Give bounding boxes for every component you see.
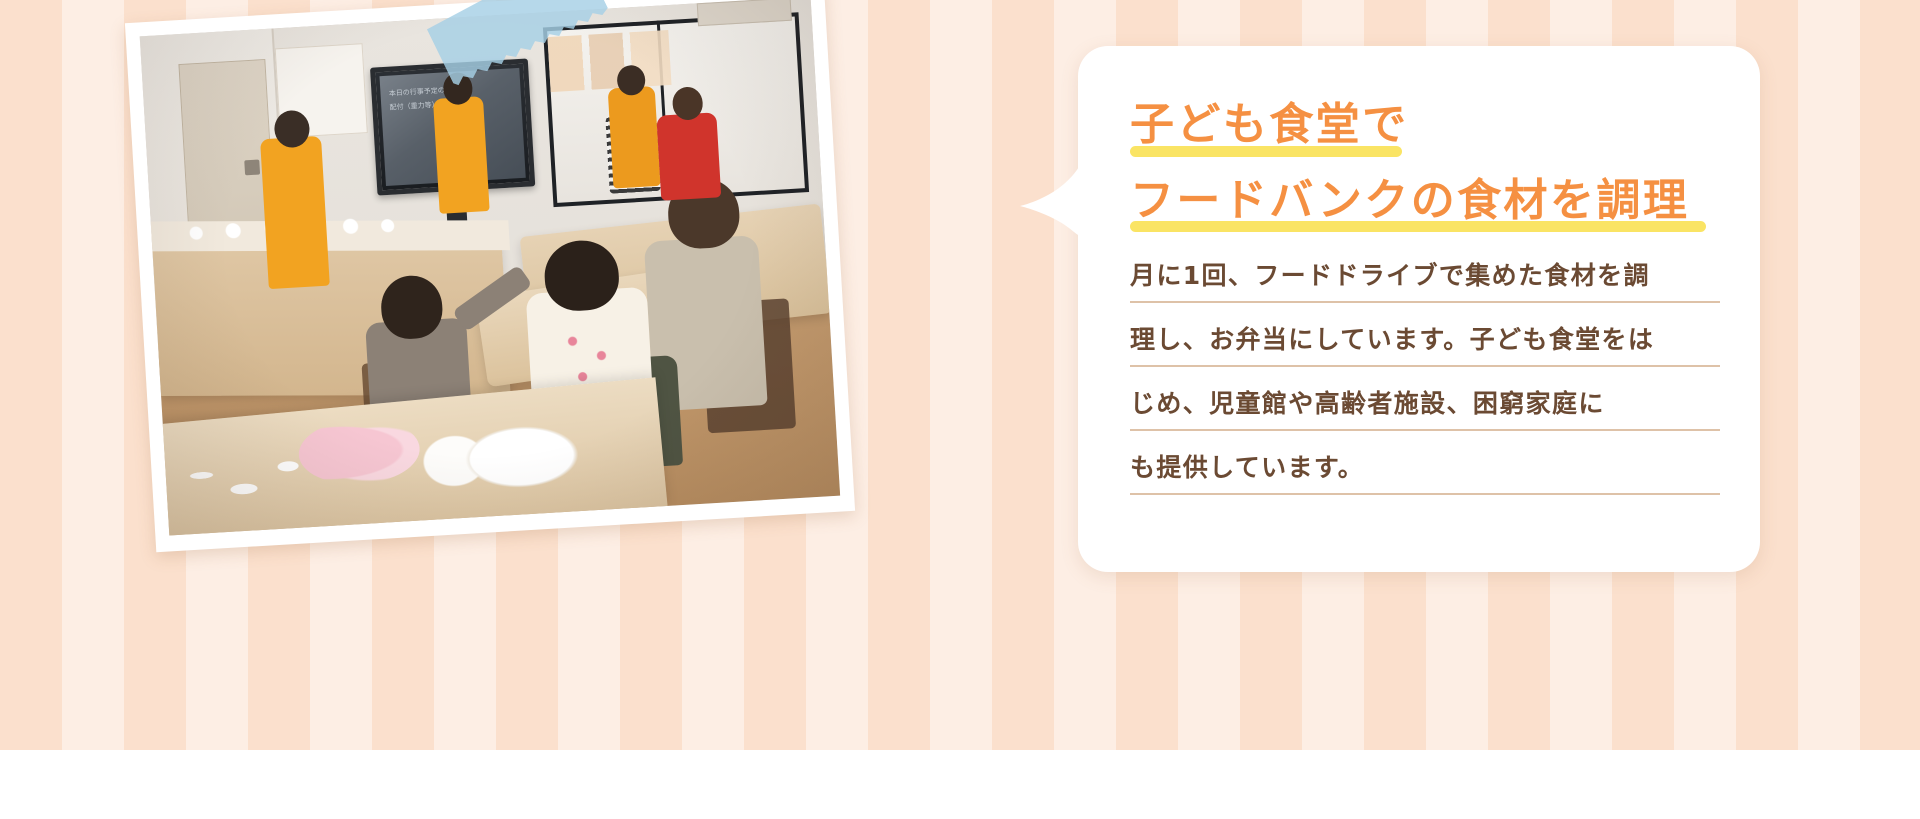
body-line-1: 月に1回、フードドライブで集めた食材を調	[1130, 263, 1720, 303]
info-card: 子ども食堂で フードバンクの食材を調理 月に1回、フードドライブで集めた食材を調…	[1078, 46, 1760, 572]
card-heading: 子ども食堂で フードバンクの食材を調理	[1130, 98, 1720, 233]
page-stage: 本日の行事予定のお知らせ 配付（重力等）	[0, 0, 1920, 819]
card-content: 子ども食堂で フードバンクの食材を調理 月に1回、フードドライブで集めた食材を調…	[1130, 98, 1720, 495]
speech-bubble-tail	[1020, 132, 1092, 236]
card-body-text: 月に1回、フードドライブで集めた食材を調 理し、お弁当にしています。子ども食堂を…	[1130, 263, 1720, 495]
body-line-3: じめ、児童館や高齢者施設、困窮家庭に	[1130, 391, 1720, 431]
heading-line-2: フードバンクの食材を調理	[1130, 174, 1720, 234]
body-line-4: も提供しています。	[1130, 455, 1720, 495]
white-bottom-band	[0, 750, 1920, 819]
heading-line-2-text: フードバンクの食材を調理	[1130, 175, 1689, 226]
heading-line-1: 子ども食堂で	[1130, 98, 1720, 158]
photo-volunteer-back	[607, 86, 660, 189]
photo-person-red-top	[656, 112, 721, 200]
photo-volunteer-center	[433, 96, 490, 214]
photo-volunteer-left	[260, 136, 329, 289]
photo-front-plate	[459, 421, 584, 493]
heading-line-1-text: 子ども食堂で	[1130, 99, 1409, 150]
body-line-2: 理し、お弁当にしています。子ども食堂をは	[1130, 327, 1720, 367]
photo-door-knob	[245, 159, 261, 175]
